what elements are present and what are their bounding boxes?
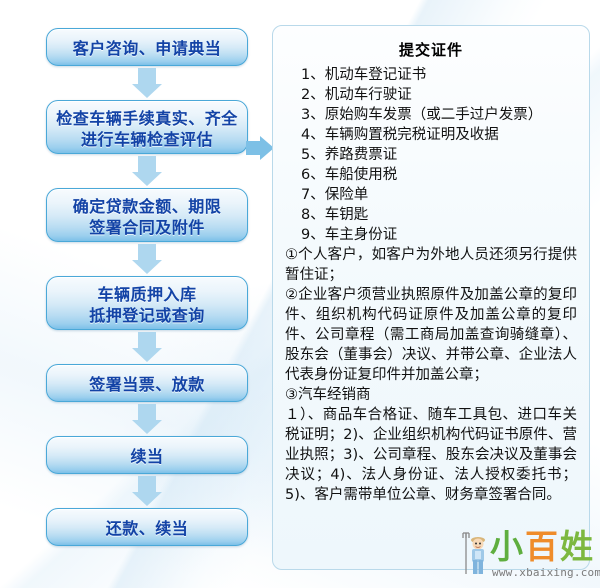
flow-step-3-label: 确定贷款金额、期限 签署合同及附件: [47, 196, 247, 238]
site-watermark: 小百姓 www.xbaixing.com: [462, 528, 596, 584]
list-item: 3、原始购车发票（或二手过户发票）: [285, 105, 577, 125]
flow-step-5[interactable]: 签署当票、放款: [46, 364, 248, 402]
arrow-head: [132, 348, 162, 362]
flow-step-3[interactable]: 确定贷款金额、期限 签署合同及附件: [46, 188, 248, 242]
list-item: 2、机动车行驶证: [285, 85, 577, 105]
flow-step-2-label: 检查车辆手续真实、齐全 进行车辆检查评估: [47, 108, 247, 150]
note-paragraph-4: １）、商品车合格证、随车工具包、进口车关税证明；2)、企业组织机构代码证书原件、…: [285, 405, 577, 505]
flow-step-6[interactable]: 续当: [46, 436, 248, 474]
arrow-head: [132, 84, 162, 98]
flow-step-4[interactable]: 车辆质押入库 抵押登记或查询: [46, 276, 248, 330]
arrow-shaft: [138, 68, 156, 84]
list-item: 6、车船使用税: [285, 165, 577, 185]
arrow-head: [132, 260, 162, 274]
flowchart-canvas: 客户咨询、申请典当 检查车辆手续真实、齐全 进行车辆检查评估 确定贷款金额、期限…: [0, 0, 600, 588]
documents-list: 1、机动车登记证书 2、机动车行驶证 3、原始购车发票（或二手过户发票） 4、车…: [285, 65, 577, 245]
flow-arrow-down-4: [46, 330, 248, 364]
flow-step-1[interactable]: 客户咨询、申请典当: [46, 28, 248, 66]
list-item: 7、保险单: [285, 185, 577, 205]
arrow-shaft: [138, 156, 156, 172]
note-paragraph-1: ①个人客户，如客户为外地人员还须另行提供暂住证；: [285, 245, 577, 285]
flow-step-1-label: 客户咨询、申请典当: [47, 38, 247, 59]
required-documents-panel: 提交证件 1、机动车登记证书 2、机动车行驶证 3、原始购车发票（或二手过户发票…: [272, 25, 590, 570]
arrow-shaft: [138, 476, 156, 492]
flow-step-7[interactable]: 还款、续当: [46, 508, 248, 546]
list-item: 5、养路费票证: [285, 145, 577, 165]
flow-arrow-down-3: [46, 242, 248, 276]
flow-step-6-label: 续当: [47, 446, 247, 467]
flow-arrow-down-5: [46, 402, 248, 436]
note-paragraph-2: ②企业客户须营业执照原件及加盖公章的复印件、组织机构代码证原件及加盖公章的复印件…: [285, 285, 577, 385]
flow-step-2[interactable]: 检查车辆手续真实、齐全 进行车辆检查评估: [46, 100, 248, 154]
flow-arrow-down-2: [46, 154, 248, 188]
arrow-head: [132, 492, 162, 506]
arrow-shaft: [138, 404, 156, 420]
list-item: 1、机动车登记证书: [285, 65, 577, 85]
arrow-shaft: [138, 332, 156, 348]
arrow-head: [132, 420, 162, 434]
watermark-url: www.xbaixing.com: [492, 566, 600, 579]
watermark-char-2: 百: [525, 527, 560, 566]
watermark-char-3: 姓: [560, 527, 595, 566]
flow-arrow-down-1: [46, 66, 248, 100]
flow-step-4-label: 车辆质押入库 抵押登记或查询: [47, 284, 247, 326]
note-paragraph-3: ③汽车经销商: [285, 385, 577, 405]
panel-title: 提交证件: [285, 39, 577, 60]
watermark-logo: 小百姓: [490, 528, 595, 566]
documents-notes: ①个人客户，如客户为外地人员还须另行提供暂住证； ②企业客户须营业执照原件及加盖…: [285, 245, 577, 505]
process-flow-column: 客户咨询、申请典当 检查车辆手续真实、齐全 进行车辆检查评估 确定贷款金额、期限…: [46, 28, 248, 546]
watermark-char-1: 小: [490, 527, 525, 566]
arrow-head: [132, 172, 162, 186]
flow-step-7-label: 还款、续当: [47, 518, 247, 539]
list-item: 4、车辆购置税完税证明及收据: [285, 125, 577, 145]
list-item: 8、车钥匙: [285, 205, 577, 225]
arrow-shaft: [138, 244, 156, 260]
farmer-mascot-icon: [462, 530, 490, 576]
list-item: 9、车主身份证: [285, 225, 577, 245]
flow-arrow-down-6: [46, 474, 248, 508]
flow-step-5-label: 签署当票、放款: [47, 374, 247, 395]
